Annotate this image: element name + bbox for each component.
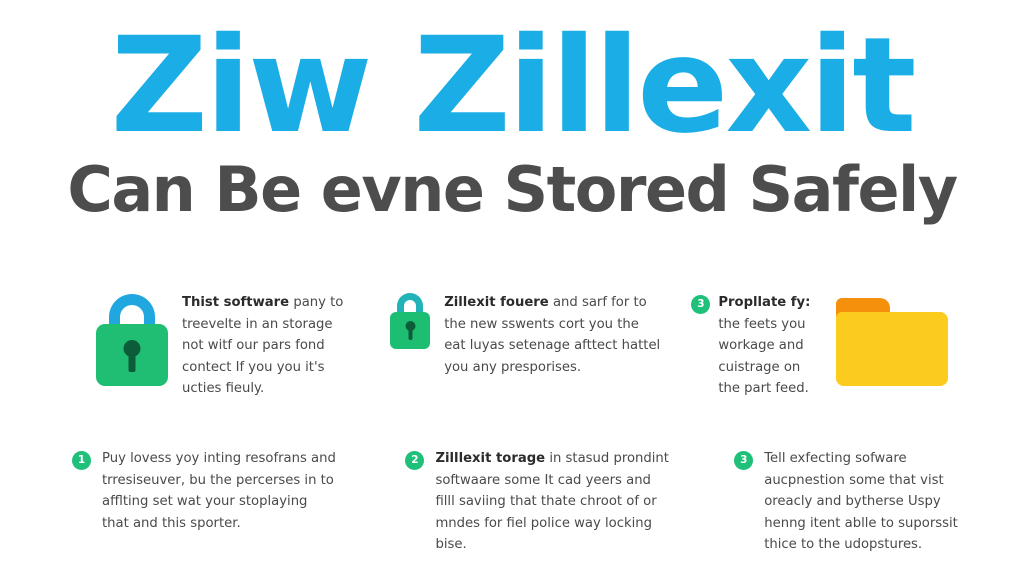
badge-1: 1: [72, 451, 91, 470]
page-title: Ziw Zillexit: [0, 22, 1024, 151]
feature-item-3: 3 Propllate fy: the feets you workage an…: [691, 292, 972, 400]
padlock-icon: [390, 292, 430, 349]
headline-block: Ziw Zillexit Can Be evne Stored Safely: [0, 22, 1024, 221]
folder-front-left: [836, 312, 886, 386]
point-item-3: 3 Tell exfecting sofware aucpnestion som…: [696, 448, 984, 556]
infographic-poster: Ziw Zillexit Can Be evne Stored Safely T…: [0, 0, 1024, 581]
folder-icon: [836, 298, 948, 386]
feature-row: Thist software pany to treevelte in an s…: [72, 292, 972, 400]
feature-text-2: Zillexit fouere and sarf for to the new …: [444, 292, 663, 378]
point-text-1: Puy lovess yoy inting resofrans and trre…: [102, 448, 337, 534]
point-body-3: Tell exfecting sofware aucpnestion some …: [764, 451, 958, 552]
feature-lead-2: Zillexit fouere: [444, 295, 549, 310]
points-row: 1 Puy lovess yoy inting resofrans and tr…: [72, 448, 984, 556]
feature-lead-1: Thist software: [182, 295, 289, 310]
padlock-body: [96, 324, 168, 386]
point-text-2: Zilllexit torage in stasud prondint soft…: [435, 448, 670, 556]
point-item-2: 2 Zilllexit torage in stasud prondint so…: [383, 448, 670, 556]
padlock-body: [390, 312, 430, 349]
point-body-1: Puy lovess yoy inting resofrans and trre…: [102, 451, 336, 531]
point-lead-2: Zilllexit torage: [435, 451, 545, 466]
feature-body-1: pany to treevelte in an storage not witf…: [182, 295, 343, 396]
padlock-keyhole: [404, 321, 417, 342]
feature-item-2: Zillexit fouere and sarf for to the new …: [382, 292, 663, 378]
point-body-2: in stasud prondint softwaare some It cad…: [435, 451, 669, 552]
page-subtitle: Can Be evne Stored Safely: [0, 159, 1024, 221]
feature-text-1: Thist software pany to treevelte in an s…: [182, 292, 347, 400]
padlock-icon: [96, 292, 168, 386]
badge-3-lower: 3: [734, 451, 753, 470]
badge-2: 2: [405, 451, 424, 470]
feature-lead-3: Propllate fy:: [718, 295, 810, 310]
point-item-1: 1 Puy lovess yoy inting resofrans and tr…: [72, 448, 357, 534]
point-text-3: Tell exfecting sofware aucpnestion some …: [764, 448, 984, 556]
feature-text-3: Propllate fy: the feets you workage and …: [718, 292, 822, 400]
badge-3: 3: [691, 295, 710, 314]
padlock-keyhole: [121, 340, 143, 374]
feature-body-3: the feets you workage and cuistrage on t…: [718, 317, 809, 397]
feature-item-1: Thist software pany to treevelte in an s…: [72, 292, 354, 400]
